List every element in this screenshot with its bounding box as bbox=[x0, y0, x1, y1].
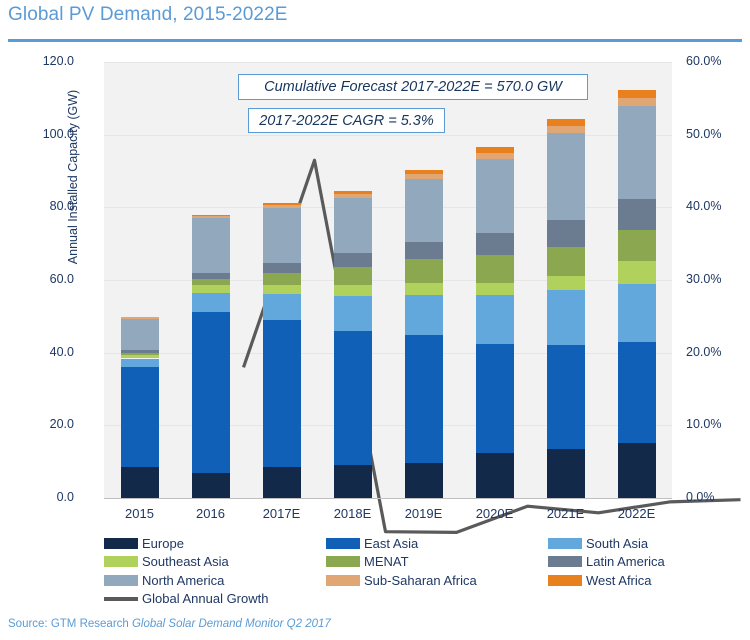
legend-label: North America bbox=[142, 573, 224, 588]
bar-segment-southeast-asia[interactable] bbox=[476, 283, 514, 295]
y-axis-primary-tick: 120.0 bbox=[14, 54, 74, 68]
bar-segment-south-asia[interactable] bbox=[476, 295, 514, 344]
bar-segment-north-america[interactable] bbox=[263, 208, 301, 263]
legend-label: Southeast Asia bbox=[142, 554, 229, 569]
source-prefix: Source: GTM Research bbox=[8, 618, 132, 630]
page-title: Global PV Demand, 2015-2022E bbox=[8, 4, 288, 26]
bar-segment-latin-america[interactable] bbox=[121, 350, 159, 353]
bar-segment-menat[interactable] bbox=[405, 259, 443, 283]
y-axis-secondary-tick: 10.0% bbox=[686, 417, 748, 431]
bar-segment-north-america[interactable] bbox=[476, 159, 514, 233]
legend-row: Global Annual Growth bbox=[104, 590, 750, 608]
x-axis-tick: 2015 bbox=[104, 506, 175, 521]
bar-segment-east-asia[interactable] bbox=[121, 367, 159, 467]
bar-segment-europe[interactable] bbox=[547, 449, 585, 498]
y-axis-secondary-tick: 30.0% bbox=[686, 272, 748, 286]
bar-segment-north-america[interactable] bbox=[121, 319, 159, 351]
bar-segment-east-asia[interactable] bbox=[476, 344, 514, 453]
bar-segment-sub-saharan-africa[interactable] bbox=[334, 194, 372, 198]
bar-segment-sub-saharan-africa[interactable] bbox=[476, 153, 514, 159]
bar-segment-menat[interactable] bbox=[192, 279, 230, 286]
legend-swatch-icon bbox=[548, 575, 582, 586]
bar-segment-southeast-asia[interactable] bbox=[192, 285, 230, 293]
y-axis-secondary-tick: 0.0% bbox=[686, 490, 748, 504]
bar-segment-west-africa[interactable] bbox=[547, 119, 585, 126]
y-axis-primary-tick: 20.0 bbox=[14, 417, 74, 431]
bar-segment-southeast-asia[interactable] bbox=[405, 283, 443, 294]
legend-item-southeast-asia[interactable]: Southeast Asia bbox=[104, 553, 229, 571]
gridline bbox=[104, 62, 672, 63]
bar-stack[interactable] bbox=[121, 62, 159, 498]
x-axis-tick: 2017E bbox=[246, 506, 317, 521]
bar-stack[interactable] bbox=[192, 62, 230, 498]
y-axis-secondary-tick: 20.0% bbox=[686, 345, 748, 359]
legend-label: East Asia bbox=[364, 536, 418, 551]
legend-swatch-icon bbox=[326, 538, 360, 549]
bar-segment-southeast-asia[interactable] bbox=[263, 285, 301, 294]
legend-swatch-icon bbox=[548, 556, 582, 567]
x-axis-tick: 2020E bbox=[459, 506, 530, 521]
bar-segment-latin-america[interactable] bbox=[334, 253, 372, 267]
legend-line-icon bbox=[104, 593, 138, 604]
legend-label: Sub-Saharan Africa bbox=[364, 573, 477, 588]
callout-cumulative-forecast: Cumulative Forecast 2017-2022E = 570.0 G… bbox=[238, 74, 588, 100]
callout-cagr: 2017-2022E CAGR = 5.3% bbox=[248, 108, 445, 133]
bar-segment-sub-saharan-africa[interactable] bbox=[547, 126, 585, 133]
source-note: Source: GTM Research Global Solar Demand… bbox=[8, 618, 331, 630]
bar-segment-south-asia[interactable] bbox=[547, 290, 585, 345]
bar-segment-north-america[interactable] bbox=[618, 106, 656, 199]
legend-swatch-icon bbox=[326, 575, 360, 586]
legend: EuropeEast AsiaSouth AsiaSoutheast AsiaM… bbox=[104, 534, 750, 608]
legend-row: Southeast AsiaMENATLatin America bbox=[104, 553, 750, 571]
legend-swatch-icon bbox=[326, 556, 360, 567]
bar-segment-sub-saharan-africa[interactable] bbox=[405, 174, 443, 179]
legend-row: North AmericaSub-Saharan AfricaWest Afri… bbox=[104, 571, 750, 589]
bar-segment-west-africa[interactable] bbox=[618, 90, 656, 98]
legend-item-europe[interactable]: Europe bbox=[104, 534, 184, 552]
bar-segment-latin-america[interactable] bbox=[476, 233, 514, 255]
y-axis-primary-label: Annual Installed Capacity (GW) bbox=[66, 90, 80, 264]
bar-segment-east-asia[interactable] bbox=[192, 312, 230, 473]
legend-swatch-icon bbox=[104, 556, 138, 567]
legend-label: MENAT bbox=[364, 554, 409, 569]
y-axis-primary-tick: 60.0 bbox=[14, 272, 74, 286]
source-publication: Global Solar Demand Monitor Q2 2017 bbox=[132, 618, 331, 630]
y-axis-secondary-tick: 50.0% bbox=[686, 127, 748, 141]
legend-label: Global Annual Growth bbox=[142, 591, 268, 606]
chart-header: Global PV Demand, 2015-2022E bbox=[0, 0, 750, 46]
bar-segment-menat[interactable] bbox=[547, 247, 585, 276]
bar-segment-sub-saharan-africa[interactable] bbox=[121, 317, 159, 319]
legend-swatch-icon bbox=[104, 575, 138, 586]
legend-item-west-africa[interactable]: West Africa bbox=[548, 571, 652, 589]
bar-segment-menat[interactable] bbox=[263, 273, 301, 285]
title-divider bbox=[8, 39, 742, 42]
bar-segment-east-asia[interactable] bbox=[618, 342, 656, 443]
bar-segment-southeast-asia[interactable] bbox=[618, 261, 656, 284]
bar-segment-europe[interactable] bbox=[192, 473, 230, 498]
bar-segment-west-africa[interactable] bbox=[334, 191, 372, 194]
y-axis-secondary-tick: 40.0% bbox=[686, 199, 748, 213]
legend-label: Europe bbox=[142, 536, 184, 551]
legend-label: South Asia bbox=[586, 536, 648, 551]
bar-segment-sub-saharan-africa[interactable] bbox=[618, 98, 656, 106]
bar-segment-west-africa[interactable] bbox=[263, 203, 301, 205]
legend-item-east-asia[interactable]: East Asia bbox=[326, 534, 418, 552]
bar-segment-menat[interactable] bbox=[618, 230, 656, 261]
legend-item-sub-saharan-africa[interactable]: Sub-Saharan Africa bbox=[326, 571, 477, 589]
bar-segment-menat[interactable] bbox=[334, 267, 372, 285]
legend-item-global-annual-growth[interactable]: Global Annual Growth bbox=[104, 590, 268, 608]
bar-segment-europe[interactable] bbox=[121, 467, 159, 498]
bar-segment-east-asia[interactable] bbox=[263, 320, 301, 468]
bar-stack[interactable] bbox=[476, 62, 514, 498]
bar-segment-latin-america[interactable] bbox=[192, 273, 230, 278]
x-axis-tick: 2022E bbox=[601, 506, 672, 521]
bar-segment-north-america[interactable] bbox=[334, 198, 372, 253]
bar-segment-latin-america[interactable] bbox=[263, 263, 301, 272]
bar-segment-north-america[interactable] bbox=[405, 179, 443, 241]
bar-stack[interactable] bbox=[618, 62, 656, 498]
bar-segment-southeast-asia[interactable] bbox=[547, 276, 585, 290]
bar-segment-latin-america[interactable] bbox=[547, 220, 585, 247]
legend-item-latin-america[interactable]: Latin America bbox=[548, 553, 665, 571]
bar-segment-west-africa[interactable] bbox=[405, 170, 443, 174]
bar-segment-north-america[interactable] bbox=[547, 133, 585, 220]
bar-segment-menat[interactable] bbox=[476, 255, 514, 283]
bar-segment-south-asia[interactable] bbox=[192, 293, 230, 312]
x-axis-tick: 2019E bbox=[388, 506, 459, 521]
bar-segment-southeast-asia[interactable] bbox=[121, 355, 159, 359]
y-axis-primary-tick: 100.0 bbox=[14, 127, 74, 141]
bar-segment-south-asia[interactable] bbox=[405, 295, 443, 336]
legend-label: Latin America bbox=[586, 554, 665, 569]
legend-label: West Africa bbox=[586, 573, 652, 588]
bar-segment-east-asia[interactable] bbox=[547, 345, 585, 449]
bar-segment-southeast-asia[interactable] bbox=[334, 285, 372, 296]
bar-segment-east-asia[interactable] bbox=[405, 335, 443, 463]
bar-segment-europe[interactable] bbox=[476, 453, 514, 498]
bar-segment-sub-saharan-africa[interactable] bbox=[263, 205, 301, 208]
y-axis-primary-tick: 80.0 bbox=[14, 199, 74, 213]
bar-segment-south-asia[interactable] bbox=[121, 359, 159, 367]
bar-segment-north-america[interactable] bbox=[192, 218, 230, 274]
bar-segment-south-asia[interactable] bbox=[618, 284, 656, 342]
bar-segment-europe[interactable] bbox=[405, 463, 443, 498]
y-axis-secondary-tick: 60.0% bbox=[686, 54, 748, 68]
bar-stack[interactable] bbox=[547, 62, 585, 498]
bar-segment-latin-america[interactable] bbox=[618, 199, 656, 230]
legend-item-south-asia[interactable]: South Asia bbox=[548, 534, 648, 552]
legend-item-north-america[interactable]: North America bbox=[104, 571, 224, 589]
legend-item-menat[interactable]: MENAT bbox=[326, 553, 409, 571]
bar-segment-europe[interactable] bbox=[334, 465, 372, 498]
legend-swatch-icon bbox=[104, 538, 138, 549]
x-axis-tick: 2021E bbox=[530, 506, 601, 521]
bar-segment-menat[interactable] bbox=[121, 353, 159, 355]
bar-segment-sub-saharan-africa[interactable] bbox=[192, 215, 230, 218]
y-axis-primary-tick: 40.0 bbox=[14, 345, 74, 359]
legend-row: EuropeEast AsiaSouth Asia bbox=[104, 534, 750, 552]
x-axis-line bbox=[104, 498, 672, 499]
legend-swatch-icon bbox=[548, 538, 582, 549]
bar-segment-east-asia[interactable] bbox=[334, 331, 372, 465]
bar-segment-south-asia[interactable] bbox=[263, 294, 301, 320]
y-axis-primary-tick: 0.0 bbox=[14, 490, 74, 504]
bar-segment-latin-america[interactable] bbox=[405, 242, 443, 260]
bar-segment-south-asia[interactable] bbox=[334, 296, 372, 331]
bar-segment-west-africa[interactable] bbox=[476, 147, 514, 153]
x-axis-tick: 2018E bbox=[317, 506, 388, 521]
x-axis-tick: 2016 bbox=[175, 506, 246, 521]
bar-segment-europe[interactable] bbox=[618, 443, 656, 498]
bar-segment-europe[interactable] bbox=[263, 467, 301, 498]
